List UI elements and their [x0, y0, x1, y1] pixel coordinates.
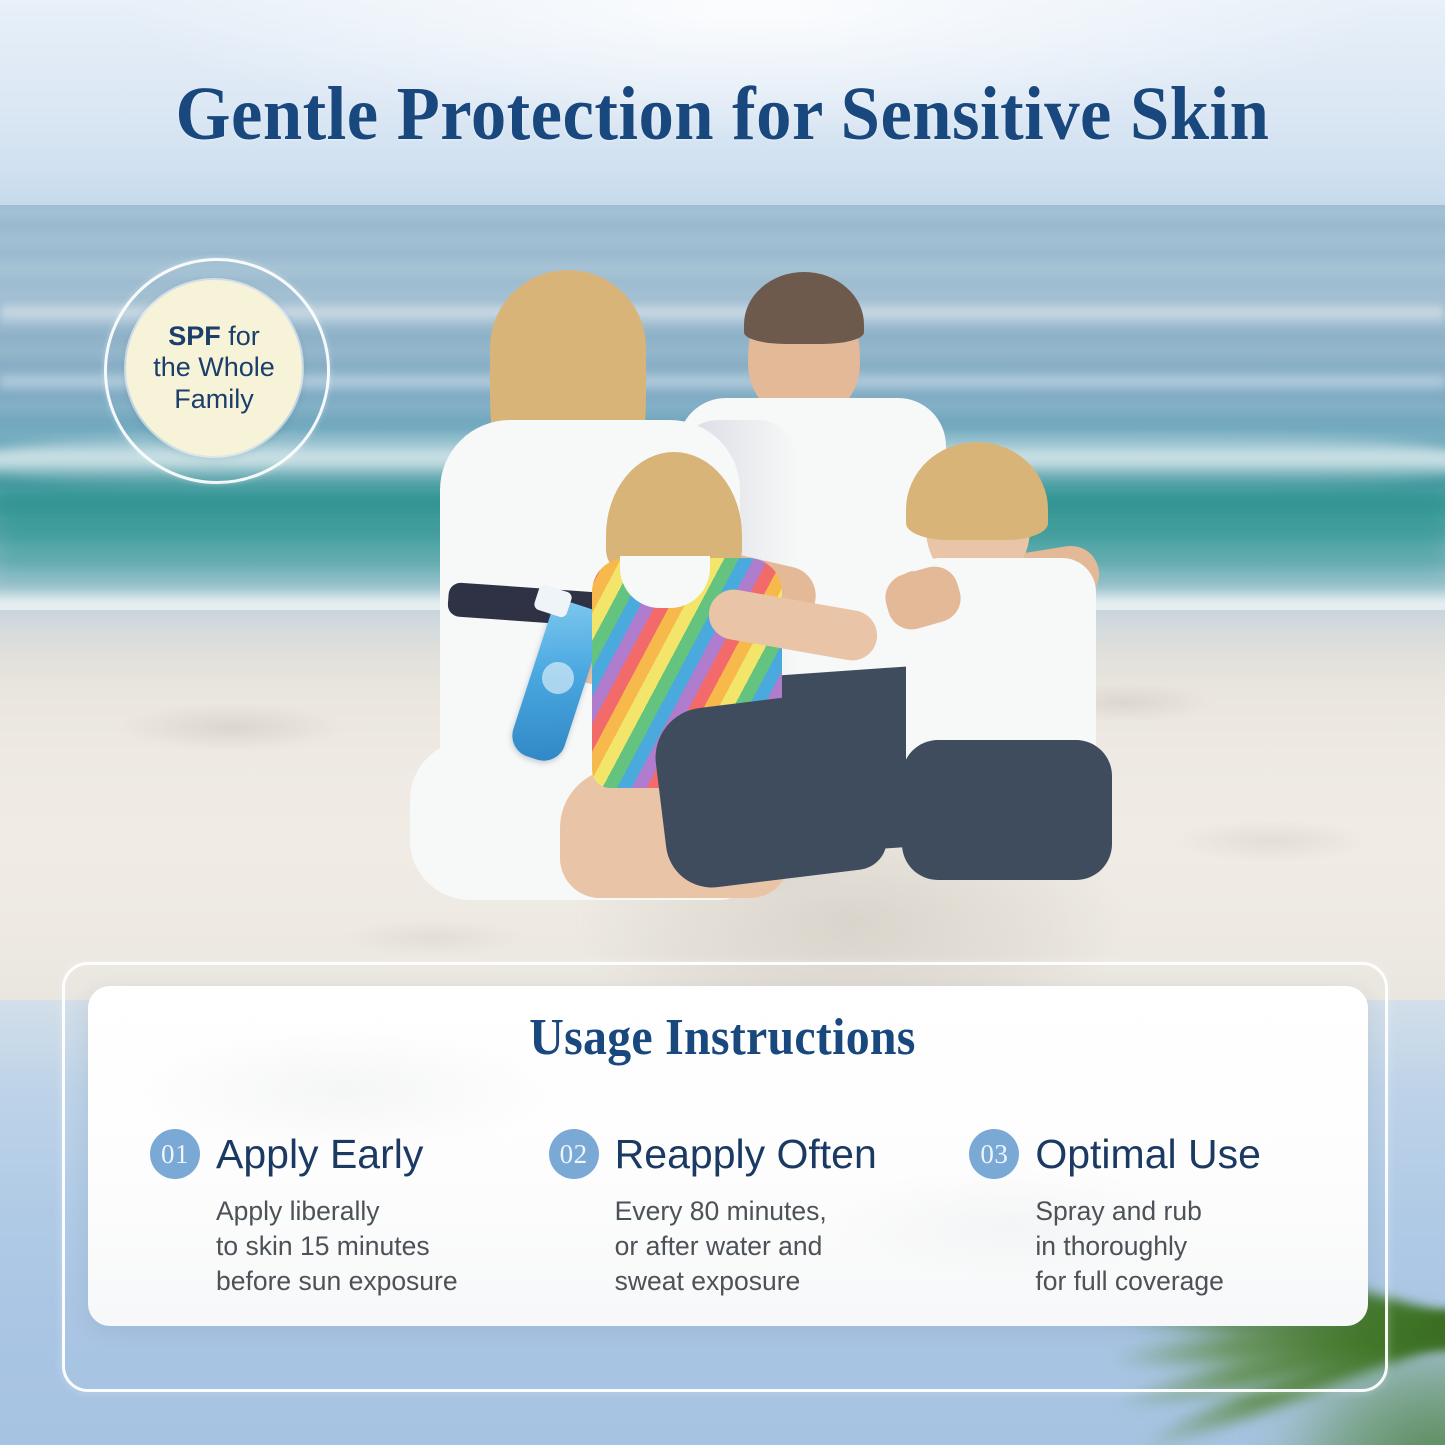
- instructions-steps: 01 Apply Early Apply liberally to skin 1…: [88, 1128, 1368, 1328]
- step-03-number-badge: 03: [969, 1129, 1019, 1179]
- spf-badge-line3: Family: [174, 384, 254, 414]
- family-on-beach-photo: [330, 270, 1130, 910]
- page-title: Gentle Protection for Sensitive Skin: [51, 76, 1395, 152]
- step-03-body: Spray and rub in thoroughly for full cov…: [1035, 1194, 1368, 1300]
- daughter-jeans: [650, 687, 890, 892]
- spf-badge-text: SPF forthe WholeFamily: [145, 321, 283, 416]
- step-01-title: Apply Early: [216, 1134, 423, 1175]
- step-02-header: 02 Reapply Often: [549, 1128, 948, 1180]
- father-hair: [744, 272, 864, 344]
- step-01-body: Apply liberally to skin 15 minutes befor…: [216, 1194, 549, 1300]
- son-jeans: [902, 740, 1112, 880]
- spf-badge: SPF forthe WholeFamily: [104, 258, 328, 482]
- spf-badge-core: SPF forthe WholeFamily: [126, 280, 302, 456]
- instruction-step-02: 02 Reapply Often Every 80 minutes, or af…: [539, 1128, 948, 1328]
- instruction-step-01: 01 Apply Early Apply liberally to skin 1…: [140, 1128, 549, 1328]
- step-03-header: 03 Optimal Use: [969, 1128, 1368, 1180]
- poster-root: Gentle Protection for Sensitive Skin SPF…: [0, 0, 1445, 1445]
- spf-badge-line2: the Whole: [153, 352, 275, 382]
- step-01-header: 01 Apply Early: [150, 1128, 549, 1180]
- step-01-number-badge: 01: [150, 1129, 200, 1179]
- step-02-body: Every 80 minutes, or after water and swe…: [615, 1194, 948, 1300]
- instructions-heading: Usage Instructions: [58, 1012, 1387, 1064]
- spf-badge-line1-rest: for: [221, 321, 260, 351]
- instruction-step-03: 03 Optimal Use Spray and rub in thorough…: [959, 1128, 1368, 1328]
- spf-badge-line1-bold: SPF: [168, 321, 221, 351]
- step-02-title: Reapply Often: [615, 1134, 877, 1175]
- step-02-number-badge: 02: [549, 1129, 599, 1179]
- step-03-title: Optimal Use: [1035, 1134, 1261, 1175]
